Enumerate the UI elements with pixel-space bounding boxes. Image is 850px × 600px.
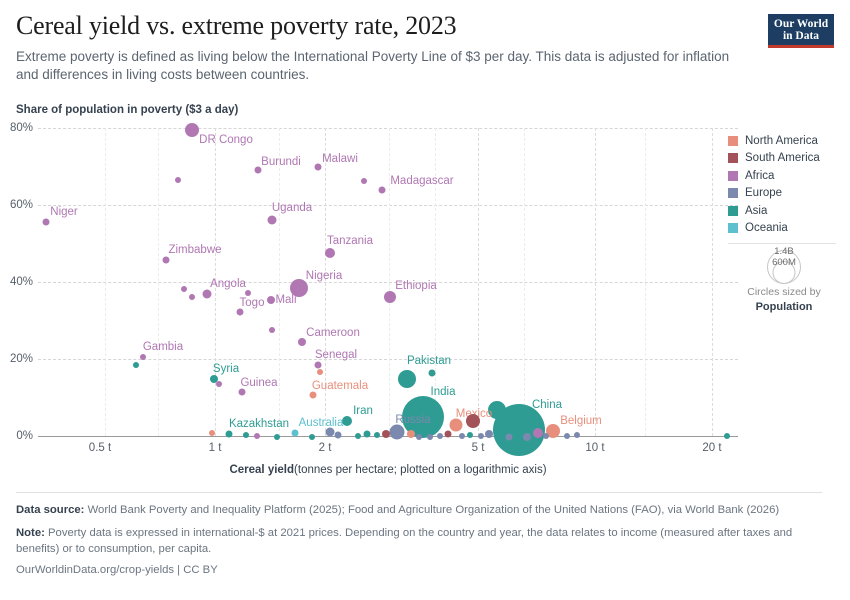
data-point-label: Gambia bbox=[143, 341, 183, 353]
data-point[interactable] bbox=[189, 294, 195, 300]
data-point[interactable] bbox=[364, 431, 371, 438]
data-point-iran[interactable] bbox=[342, 416, 352, 426]
data-point[interactable] bbox=[269, 327, 275, 333]
logo-line-2: in Data bbox=[768, 30, 834, 42]
x-axis-tick-label: 2 t bbox=[319, 442, 332, 454]
y-axis-tick-label: 20% bbox=[10, 353, 33, 365]
data-point-label: Syria bbox=[213, 363, 239, 375]
data-point-burundi[interactable] bbox=[255, 167, 262, 174]
data-point[interactable] bbox=[181, 286, 187, 292]
legend-label: Africa bbox=[745, 170, 774, 182]
x-axis-tick-label: 0.5 t bbox=[89, 442, 111, 454]
legend-item-north-america[interactable]: North America bbox=[728, 132, 840, 150]
x-gridline-minor bbox=[158, 128, 159, 436]
x-axis-title-note: (tonnes per hectare; plotted on a logari… bbox=[294, 464, 547, 476]
data-point-ethiopia[interactable] bbox=[384, 291, 396, 303]
legend-item-oceania[interactable]: Oceania bbox=[728, 220, 840, 238]
legend-item-south-america[interactable]: South America bbox=[728, 150, 840, 168]
y-axis-tick-label: 60% bbox=[10, 199, 33, 211]
data-point-label: Malawi bbox=[322, 153, 358, 165]
x-axis-tick-label: 10 t bbox=[585, 442, 604, 454]
x-gridline bbox=[712, 128, 713, 436]
data-point-label: Togo bbox=[240, 297, 265, 309]
data-point[interactable] bbox=[355, 433, 361, 439]
data-source-line: Data source: World Bank Poverty and Ineq… bbox=[16, 502, 822, 518]
data-point[interactable] bbox=[488, 401, 506, 419]
data-point-australia[interactable] bbox=[292, 430, 299, 437]
data-point[interactable] bbox=[407, 430, 415, 438]
data-point[interactable] bbox=[543, 433, 549, 439]
data-point-dr-congo[interactable] bbox=[185, 123, 199, 137]
data-point-kazakhstan[interactable] bbox=[226, 431, 233, 438]
data-point[interactable] bbox=[416, 434, 422, 440]
x-gridline-minor bbox=[645, 128, 646, 436]
data-point-label: Niger bbox=[50, 206, 77, 218]
data-point[interactable] bbox=[374, 432, 380, 438]
data-point[interactable] bbox=[574, 432, 580, 438]
data-point-label: DR Congo bbox=[199, 134, 253, 146]
legend-swatch bbox=[728, 188, 738, 198]
x-gridline bbox=[478, 128, 479, 436]
legend-swatch bbox=[728, 206, 738, 216]
note-line: Note: Poverty data is expressed in inter… bbox=[16, 525, 822, 557]
legend-item-africa[interactable]: Africa bbox=[728, 167, 840, 185]
data-point-nigeria[interactable] bbox=[290, 279, 308, 297]
data-point-gambia[interactable] bbox=[140, 354, 146, 360]
data-point-tanzania[interactable] bbox=[325, 248, 335, 258]
data-source-text: World Bank Poverty and Inequality Platfo… bbox=[84, 504, 779, 516]
data-point-label: Madagascar bbox=[390, 175, 453, 187]
data-point-label: Tanzania bbox=[327, 235, 373, 247]
data-point[interactable] bbox=[496, 433, 502, 439]
x-axis-tick-label: 1 t bbox=[209, 442, 222, 454]
data-point-label: Zimbabwe bbox=[168, 244, 221, 256]
data-point[interactable] bbox=[564, 433, 570, 439]
x-axis-title-main: Cereal yield bbox=[229, 464, 294, 476]
data-point[interactable] bbox=[326, 428, 335, 437]
data-point-senegal[interactable] bbox=[315, 362, 322, 369]
data-point[interactable] bbox=[209, 430, 215, 436]
data-point[interactable] bbox=[523, 433, 531, 441]
data-point[interactable] bbox=[133, 362, 139, 368]
legend-label: Asia bbox=[745, 205, 767, 217]
data-point-label: Guatemala bbox=[312, 380, 368, 392]
data-point[interactable] bbox=[175, 177, 181, 183]
data-point-zimbabwe[interactable] bbox=[163, 257, 170, 264]
y-gridline bbox=[38, 282, 738, 283]
data-point[interactable] bbox=[467, 432, 473, 438]
y-gridline bbox=[38, 128, 738, 129]
page-title: Cereal yield vs. extreme poverty rate, 2… bbox=[16, 12, 756, 41]
data-point[interactable] bbox=[466, 414, 480, 428]
data-point-russia[interactable] bbox=[390, 425, 405, 440]
data-point-label: Iran bbox=[353, 405, 373, 417]
y-axis-title: Share of population in poverty ($3 a day… bbox=[16, 104, 238, 116]
x-gridline bbox=[325, 128, 326, 436]
data-point-label: Pakistan bbox=[407, 355, 451, 367]
legend-item-asia[interactable]: Asia bbox=[728, 202, 840, 220]
chart-page: Cereal yield vs. extreme poverty rate, 2… bbox=[0, 0, 850, 600]
x-axis-tick-label: 5 t bbox=[472, 442, 485, 454]
owid-link[interactable]: OurWorldinData.org/crop-yields | CC BY bbox=[16, 564, 822, 576]
data-point[interactable] bbox=[254, 433, 260, 439]
data-point[interactable] bbox=[382, 430, 390, 438]
x-gridline-minor bbox=[105, 128, 106, 436]
legend-swatch bbox=[728, 223, 738, 233]
x-axis-title: Cereal yield(tonnes per hectare; plotted… bbox=[229, 464, 546, 476]
size-legend-large-label: 1.4B bbox=[774, 246, 794, 257]
data-point[interactable] bbox=[317, 369, 323, 375]
y-axis-tick-label: 0% bbox=[16, 430, 33, 442]
size-legend-caption: Circles sized by Population bbox=[728, 286, 840, 314]
logo-line-1: Our World bbox=[768, 18, 834, 30]
data-source-label: Data source: bbox=[16, 504, 84, 516]
continent-legend: North AmericaSouth AmericaAfricaEuropeAs… bbox=[728, 132, 840, 237]
data-point[interactable] bbox=[309, 434, 315, 440]
legend-label: South America bbox=[745, 152, 820, 164]
legend-label: North America bbox=[745, 135, 818, 147]
data-point-mali[interactable] bbox=[267, 296, 275, 304]
legend-divider bbox=[728, 243, 836, 244]
chart-subtitle: Extreme poverty is defined as living bel… bbox=[16, 48, 751, 85]
data-point[interactable] bbox=[361, 178, 367, 184]
legend-label: Europe bbox=[745, 187, 782, 199]
data-point-label: Burundi bbox=[261, 156, 301, 168]
y-gridline bbox=[38, 205, 738, 206]
data-point-mexico[interactable] bbox=[450, 419, 463, 432]
data-point[interactable] bbox=[506, 434, 513, 441]
data-point-cameroon[interactable] bbox=[298, 338, 306, 346]
footer-divider bbox=[16, 492, 822, 493]
data-point-label: Nigeria bbox=[306, 270, 342, 282]
data-point[interactable] bbox=[335, 432, 342, 439]
data-point[interactable] bbox=[459, 433, 465, 439]
data-point[interactable] bbox=[429, 370, 436, 377]
size-legend-small-label: 600M bbox=[772, 257, 796, 268]
data-point[interactable] bbox=[437, 433, 443, 439]
chart-footer: Data source: World Bank Poverty and Ineq… bbox=[16, 492, 822, 576]
data-point[interactable] bbox=[533, 428, 543, 438]
x-gridline-minor bbox=[279, 128, 280, 436]
note-text: Poverty data is expressed in internation… bbox=[16, 527, 792, 555]
data-point-uganda[interactable] bbox=[268, 216, 277, 225]
data-point-label: Uganda bbox=[272, 202, 312, 214]
size-legend-circles: 1.4B 600M bbox=[728, 248, 840, 284]
x-gridline-minor bbox=[435, 128, 436, 436]
data-point[interactable] bbox=[485, 430, 493, 438]
chart-header: Cereal yield vs. extreme poverty rate, 2… bbox=[16, 12, 756, 85]
data-point-pakistan[interactable] bbox=[398, 370, 416, 388]
y-axis-tick-label: 40% bbox=[10, 276, 33, 288]
data-point[interactable] bbox=[427, 434, 433, 440]
data-point[interactable] bbox=[243, 432, 249, 438]
x-gridline-minor bbox=[389, 128, 390, 436]
legend-swatch bbox=[728, 153, 738, 163]
data-point-label: Cameroon bbox=[306, 327, 360, 339]
data-point-angola[interactable] bbox=[203, 290, 212, 299]
size-legend: 1.4B 600M Circles sized by Population bbox=[728, 248, 840, 314]
data-point[interactable] bbox=[216, 381, 222, 387]
data-point-guinea[interactable] bbox=[239, 389, 246, 396]
note-label: Note: bbox=[16, 527, 45, 539]
data-point[interactable] bbox=[445, 431, 452, 438]
x-gridline bbox=[595, 128, 596, 436]
data-point-label: Guinea bbox=[240, 377, 277, 389]
x-gridline bbox=[215, 128, 216, 436]
data-point-togo[interactable] bbox=[237, 309, 244, 316]
legend-item-europe[interactable]: Europe bbox=[728, 185, 840, 203]
data-point[interactable] bbox=[478, 433, 484, 439]
y-axis-tick-label: 80% bbox=[10, 122, 33, 134]
legend-label: Oceania bbox=[745, 222, 788, 234]
x-axis-tick-label: 20 t bbox=[702, 442, 721, 454]
data-point[interactable] bbox=[724, 433, 730, 439]
data-point-madagascar[interactable] bbox=[379, 187, 386, 194]
size-legend-caption-line1: Circles sized by bbox=[747, 286, 821, 298]
data-point-malawi[interactable] bbox=[315, 164, 322, 171]
legend-swatch bbox=[728, 171, 738, 181]
data-point[interactable] bbox=[245, 290, 251, 296]
data-point-niger[interactable] bbox=[43, 219, 50, 226]
size-legend-caption-line2: Population bbox=[756, 301, 813, 313]
data-point-label: China bbox=[532, 399, 562, 411]
owid-logo[interactable]: Our World in Data bbox=[768, 14, 834, 48]
scatter-plot-area: 0%20%40%60%80%0.5 t1 t2 t5 t10 t20 tDR C… bbox=[38, 128, 738, 436]
data-point[interactable] bbox=[274, 434, 280, 440]
data-point-guatemala[interactable] bbox=[310, 392, 317, 399]
x-gridline-minor bbox=[524, 128, 525, 436]
legend-swatch bbox=[728, 136, 738, 146]
data-point-label: Australia bbox=[299, 417, 344, 429]
